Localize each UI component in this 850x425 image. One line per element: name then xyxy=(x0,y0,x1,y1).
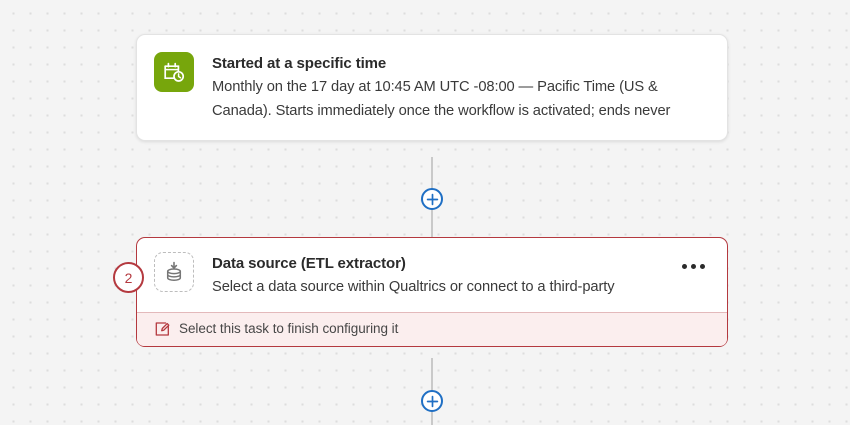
plus-icon xyxy=(426,193,439,206)
node-body: Data source (ETL extractor) Select a dat… xyxy=(137,238,727,312)
plus-icon xyxy=(426,395,439,408)
workflow-node-task[interactable]: 2 Data source (ETL extractor) Select a d… xyxy=(136,237,728,347)
edit-pencil-glyph xyxy=(154,321,170,337)
kebab-dot xyxy=(700,264,705,269)
workflow-node-trigger[interactable]: Started at a specific time Monthly on th… xyxy=(136,34,728,141)
add-step-button-bottom[interactable] xyxy=(421,390,443,412)
node-text: Started at a specific time Monthly on th… xyxy=(212,52,707,123)
node-description: Select a data source within Qualtrics or… xyxy=(212,275,642,299)
node-title: Started at a specific time xyxy=(212,53,707,74)
node-title: Data source (ETL extractor) xyxy=(212,253,642,274)
node-body: Started at a specific time Monthly on th… xyxy=(137,35,727,140)
database-download-icon xyxy=(154,252,194,292)
node-error-footer: Select this task to finish configuring i… xyxy=(137,312,727,346)
workflow-canvas: Started at a specific time Monthly on th… xyxy=(0,0,850,425)
calendar-clock-icon xyxy=(154,52,194,92)
node-description: Monthly on the 17 day at 10:45 AM UTC -0… xyxy=(212,75,707,123)
edit-pencil-icon xyxy=(154,321,170,337)
kebab-dot xyxy=(691,264,696,269)
node-error-text: Select this task to finish configuring i… xyxy=(179,320,398,338)
database-download-glyph xyxy=(163,261,185,283)
kebab-dot xyxy=(682,264,687,269)
add-step-button-top[interactable] xyxy=(421,188,443,210)
kebab-menu-icon[interactable] xyxy=(682,264,705,269)
calendar-clock-glyph xyxy=(162,60,186,84)
step-number-badge: 2 xyxy=(113,262,144,293)
node-text: Data source (ETL extractor) Select a dat… xyxy=(212,252,642,299)
